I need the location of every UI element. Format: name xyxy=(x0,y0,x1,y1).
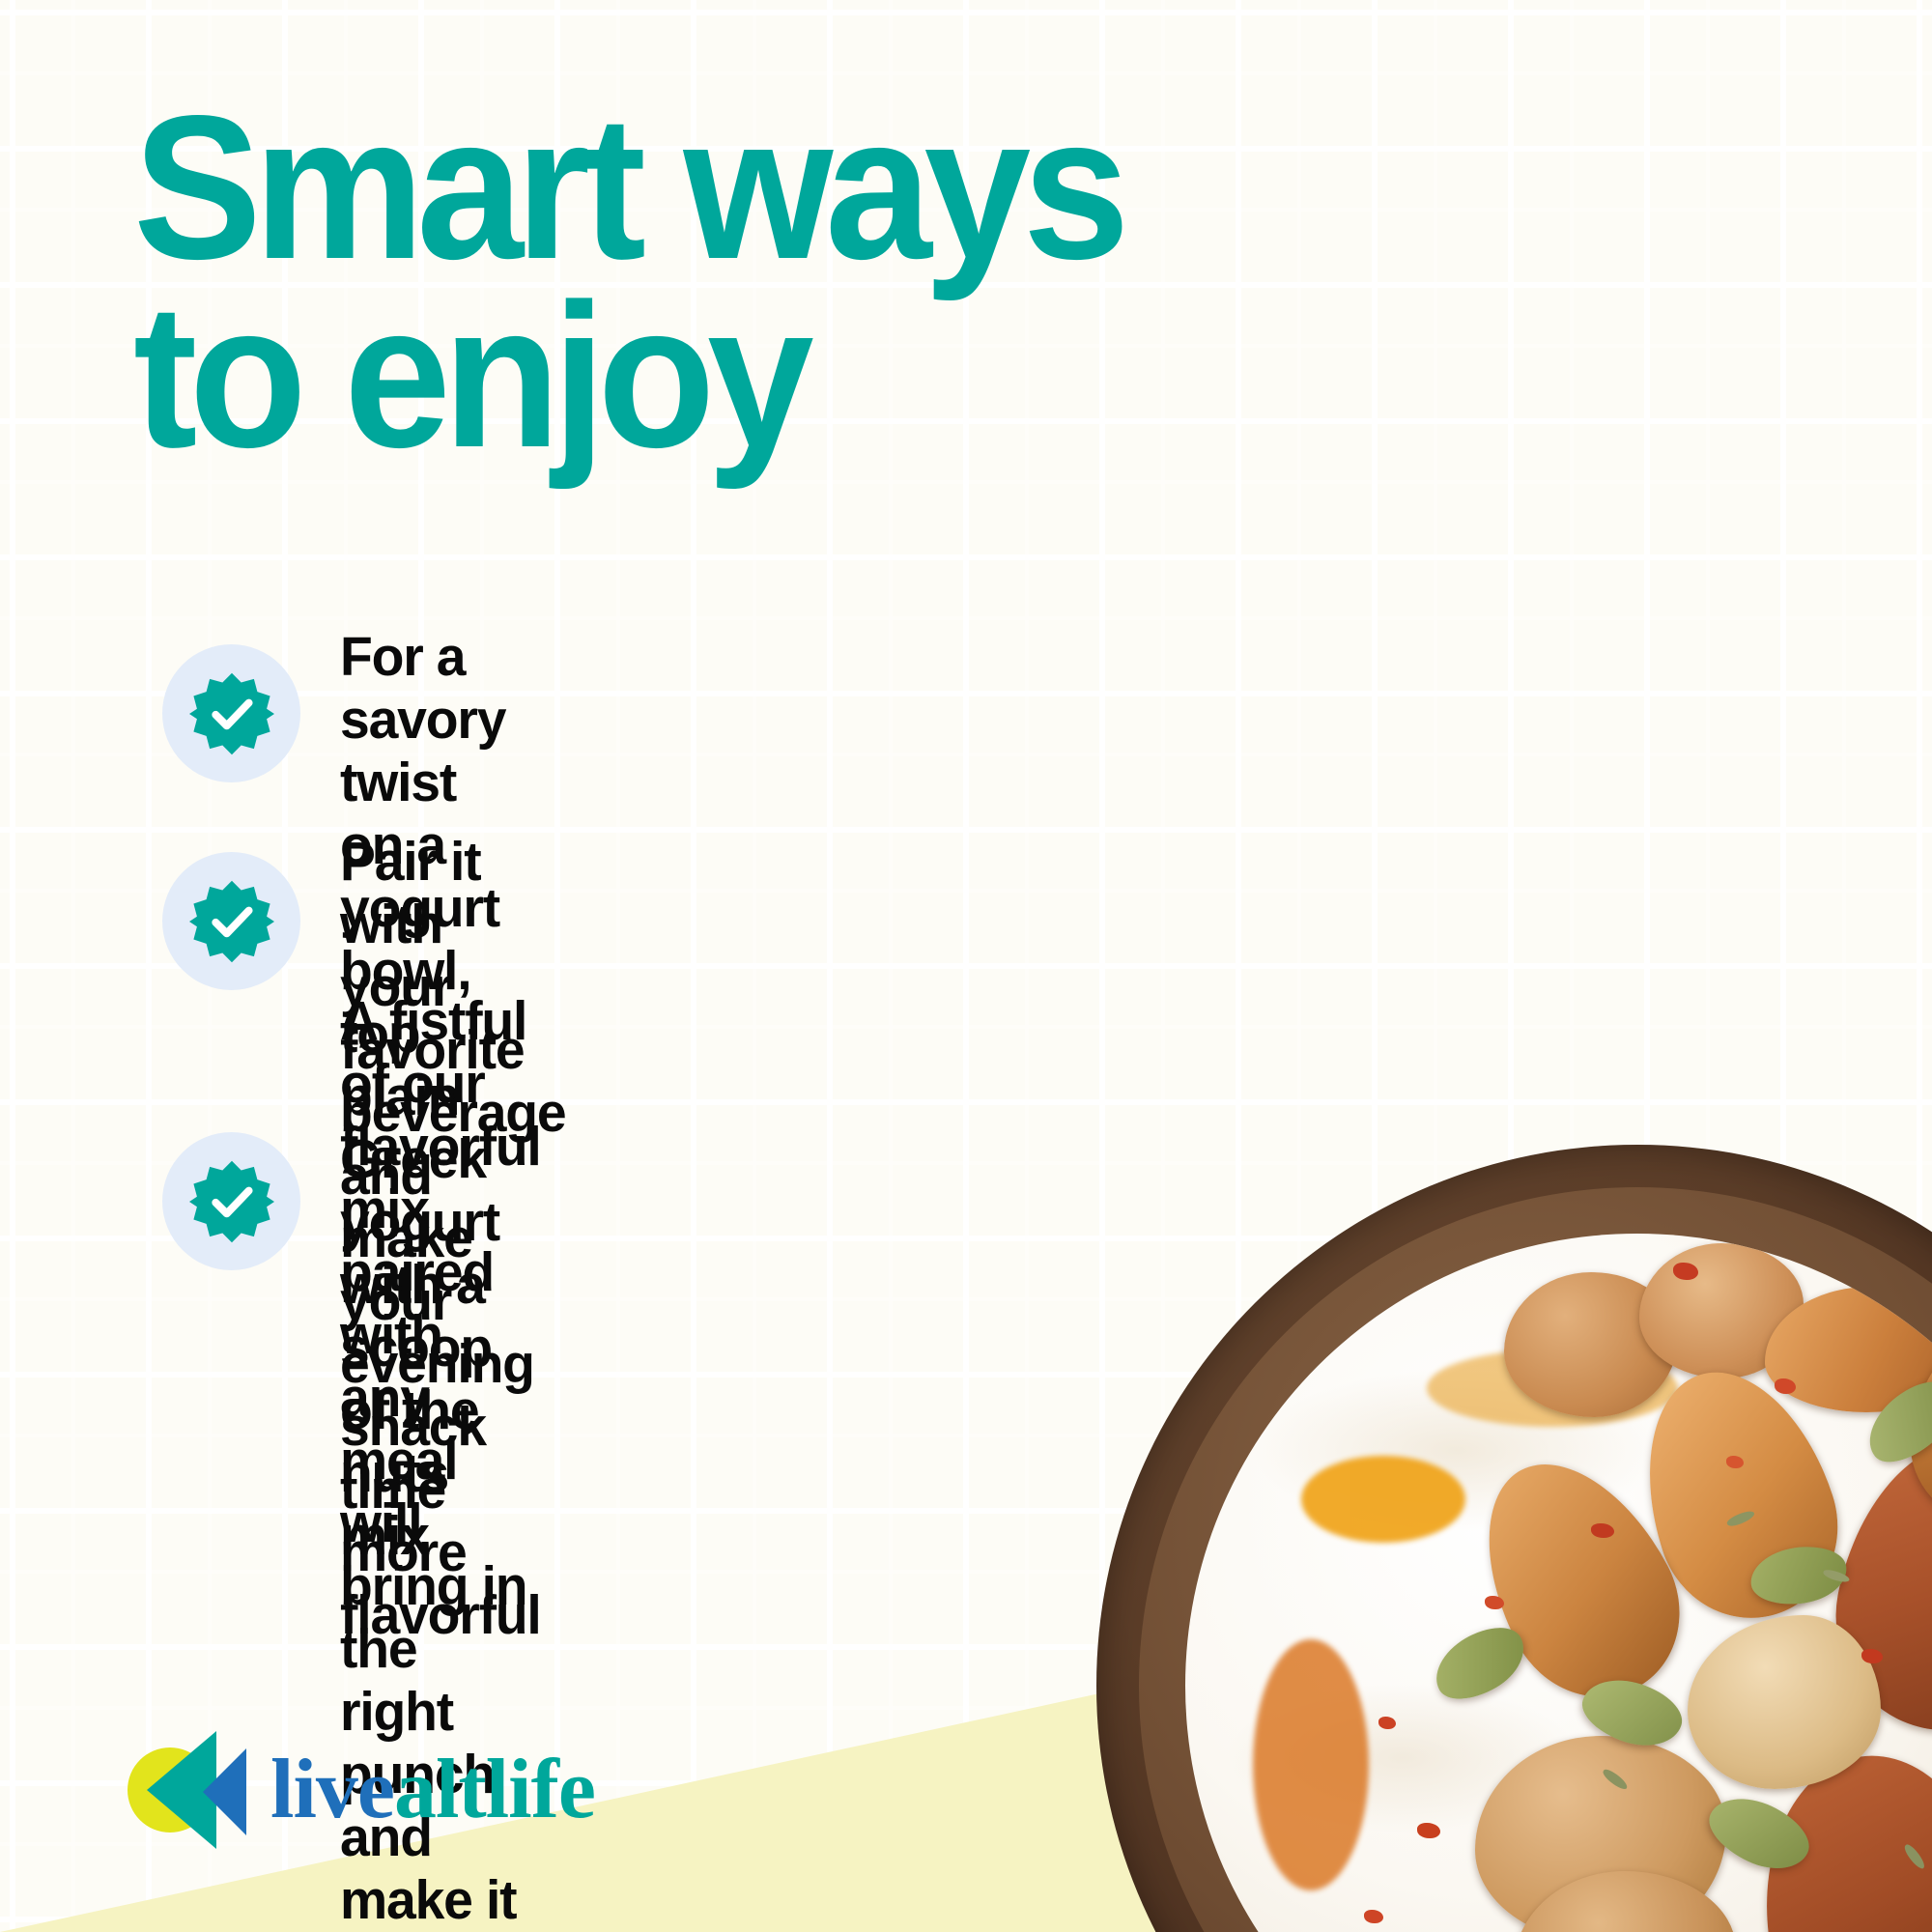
chili-flake xyxy=(1364,1910,1383,1923)
chili-flake xyxy=(1726,1456,1744,1468)
chili-oil-drizzle xyxy=(1253,1639,1369,1890)
chili-flake xyxy=(1417,1823,1440,1838)
brand-wordmark: livealtlife xyxy=(270,1747,595,1833)
yogurt-surface xyxy=(1185,1234,1932,1932)
wordmark-live: live xyxy=(270,1743,394,1836)
poster-canvas: Smart ways to enjoy For a savory twist o… xyxy=(0,0,1932,1932)
wordmark-altlife: altlife xyxy=(394,1743,595,1836)
cashew-piece xyxy=(1688,1615,1881,1789)
livealtlife-chevron-mark xyxy=(124,1727,259,1853)
chili-flake xyxy=(1861,1649,1883,1663)
verified-check-badge-icon xyxy=(162,1132,300,1270)
chili-flake xyxy=(1673,1263,1698,1280)
page-title: Smart ways to enjoy xyxy=(133,93,1122,469)
verified-check-badge-icon xyxy=(162,644,300,782)
brand-logo[interactable]: livealtlife xyxy=(124,1727,595,1853)
chili-flake xyxy=(1378,1717,1396,1729)
chili-oil-drizzle xyxy=(1301,1456,1465,1543)
verified-check-badge-icon xyxy=(162,852,300,990)
bowl-outer xyxy=(1096,1145,1932,1932)
chili-flake xyxy=(1775,1378,1796,1394)
chili-flake xyxy=(1591,1523,1614,1538)
chili-flake xyxy=(1485,1596,1504,1609)
yogurt-nuts-bowl-photo xyxy=(1096,1145,1932,1932)
